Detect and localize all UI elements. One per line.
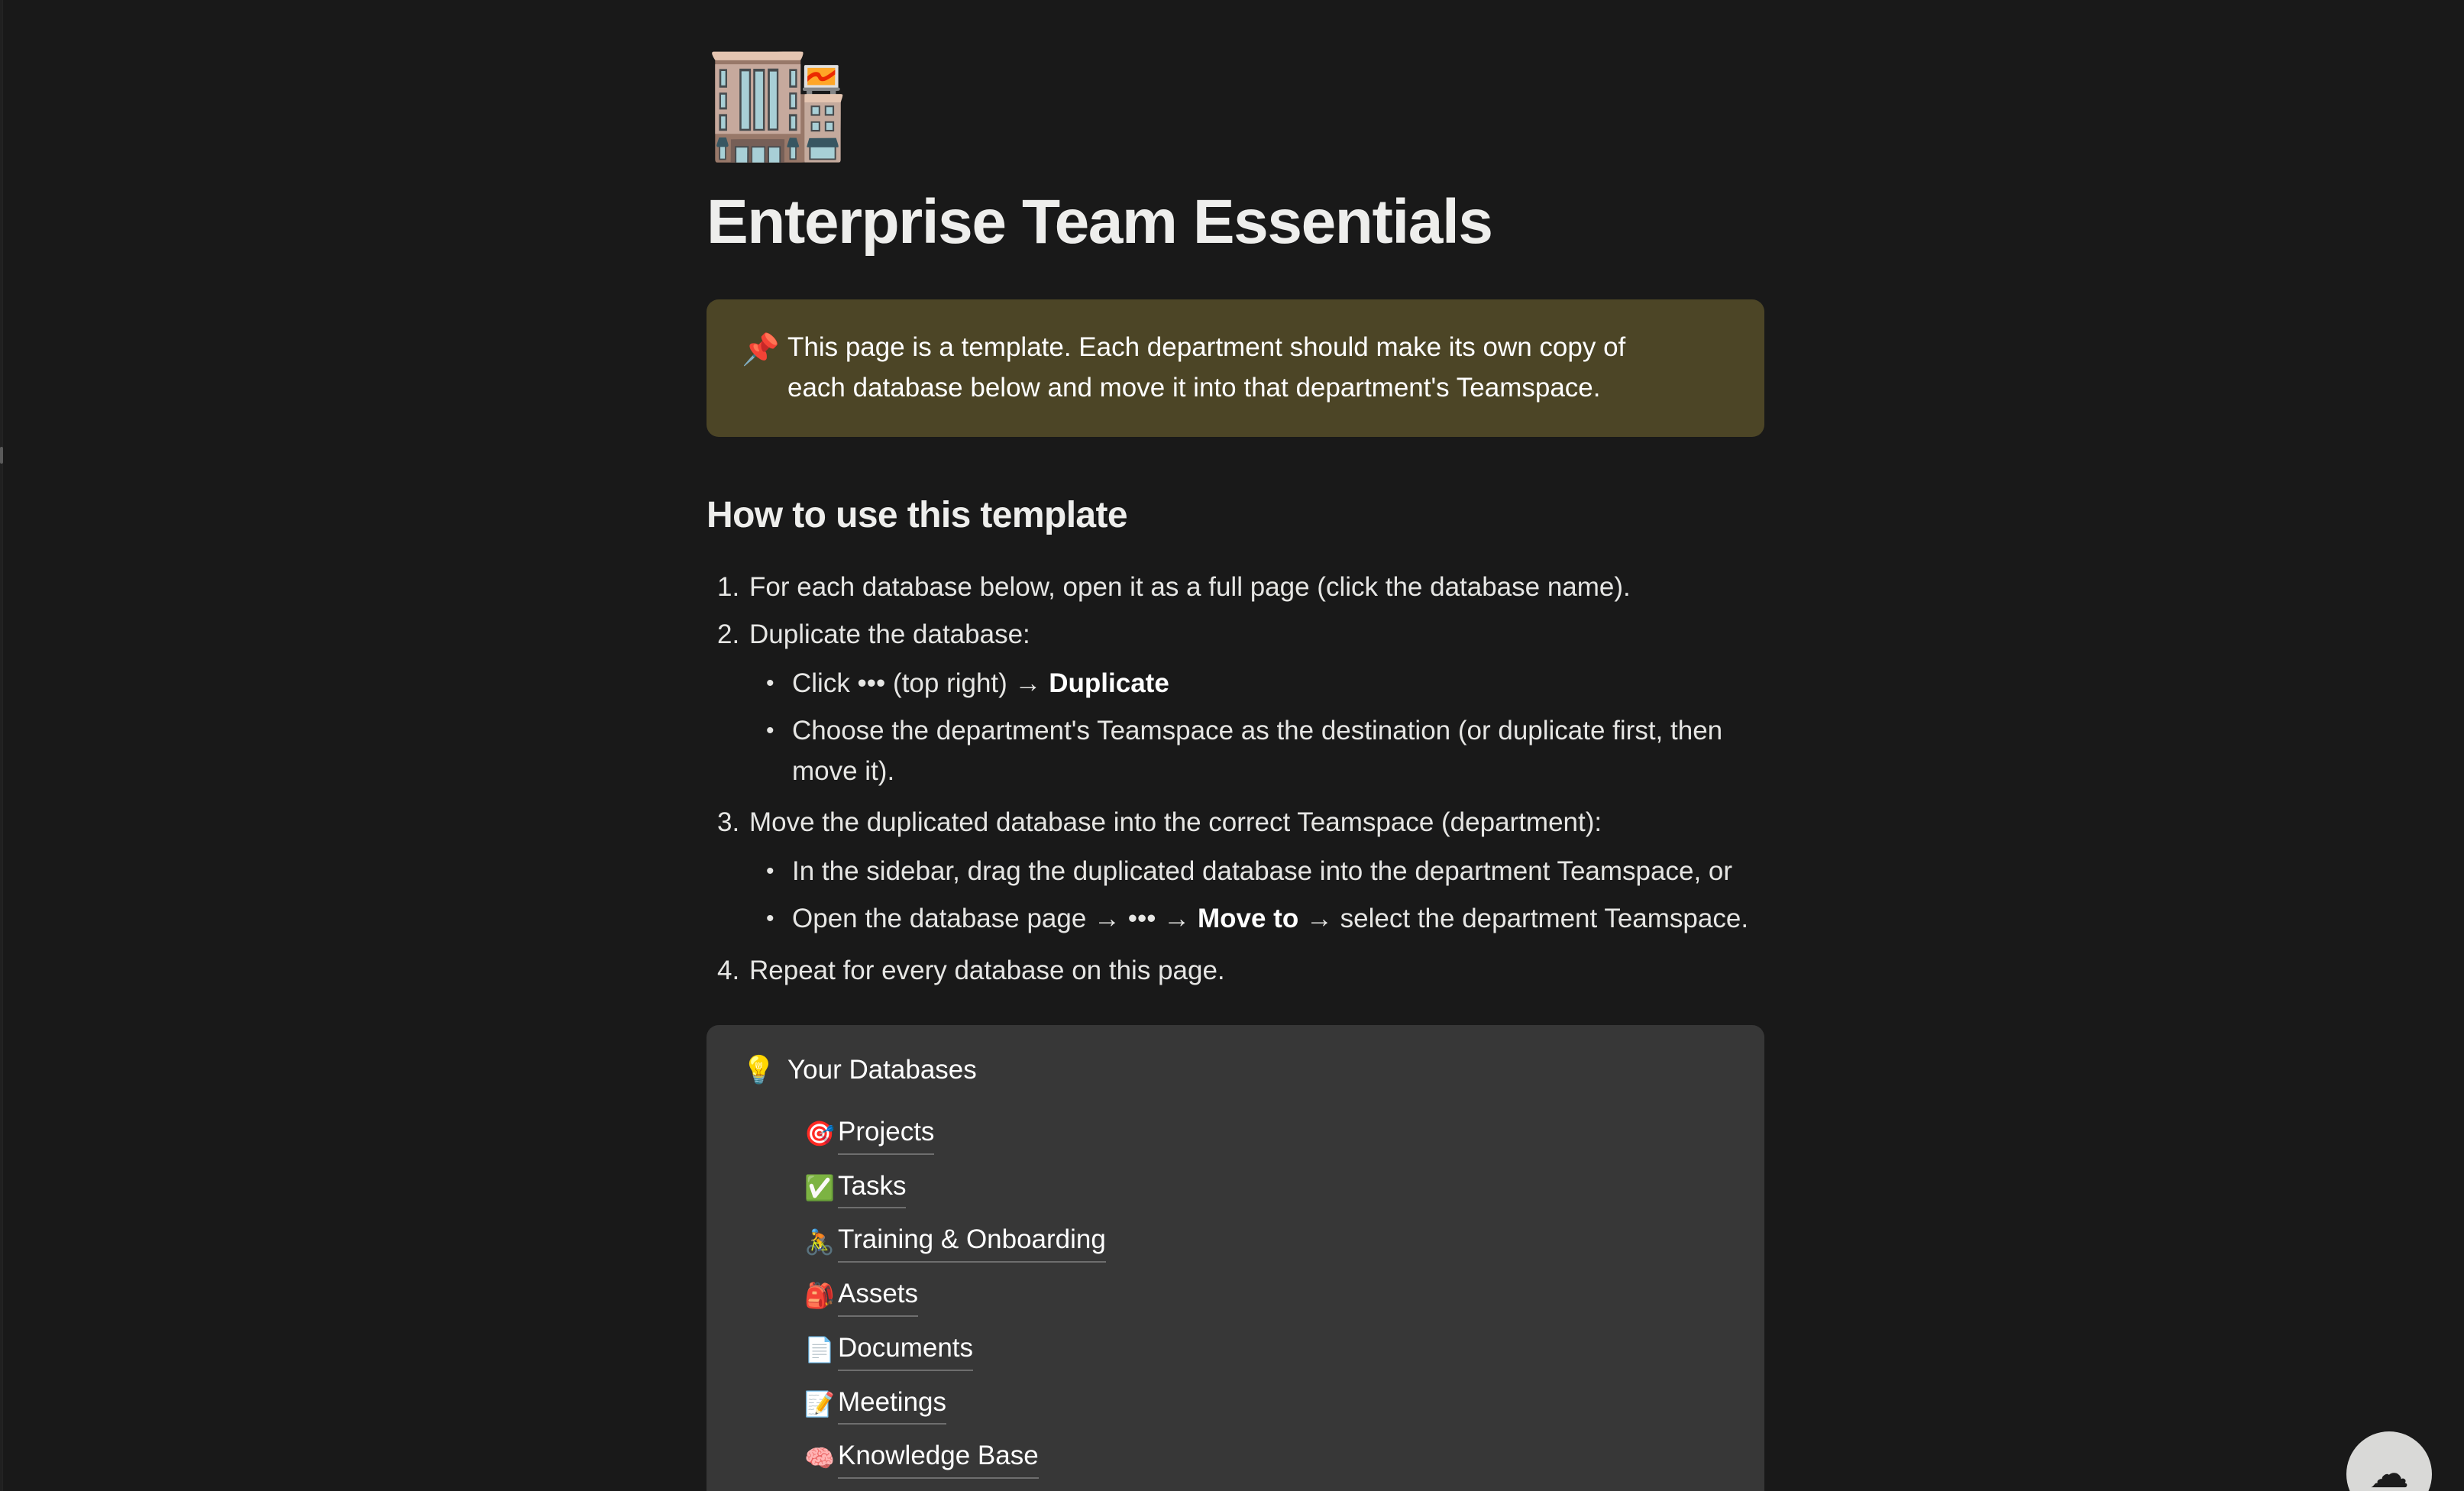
page-content: 🏬 Enterprise Team Essentials 📌 This page… <box>707 0 1764 1491</box>
how-to-steps-list: 1. For each database below, open it as a… <box>707 564 1764 995</box>
list-item: 3. Move the duplicated database into the… <box>707 799 1764 947</box>
your-databases-header: 💡 Your Databases <box>742 1051 1729 1090</box>
database-link-tasks[interactable]: Tasks <box>838 1167 906 1209</box>
sub-text-pre: Open the database page → ••• → <box>792 904 1198 933</box>
sub-bullet-list: • Click ••• (top right) → Duplicate • Ch… <box>749 660 1764 796</box>
list-item: • Open the database page → ••• → Move to… <box>749 895 1764 943</box>
list-item-body: Move the duplicated database into the co… <box>749 803 1764 943</box>
list-item: • In the sidebar, drag the duplicated da… <box>749 848 1764 896</box>
list-item[interactable]: 🎯 Projects <box>804 1107 1729 1161</box>
list-item-text: Open the database page → ••• → Move to →… <box>792 899 1764 940</box>
database-link-training-and-onboarding[interactable]: Training & Onboarding <box>838 1221 1106 1263</box>
list-item: 1. For each database below, open it as a… <box>707 564 1764 612</box>
sub-bullet-list: • In the sidebar, drag the duplicated da… <box>749 848 1764 943</box>
list-item[interactable]: 🧠 Knowledge Base <box>804 1431 1729 1485</box>
list-item: • Choose the department's Teamspace as t… <box>749 707 1764 795</box>
list-item[interactable]: 🚴 Training & Onboarding <box>804 1214 1729 1269</box>
light-bulb-emoji: 💡 <box>742 1051 787 1089</box>
list-item-text: For each database below, open it as a fu… <box>749 568 1764 608</box>
list-marker: 3. <box>707 803 749 843</box>
pushpin-emoji: 📌 <box>742 327 787 373</box>
list-item-text: Repeat for every database on this page. <box>749 951 1764 991</box>
list-marker: 2. <box>707 615 749 655</box>
list-item[interactable]: 📄 Documents <box>804 1323 1729 1377</box>
sub-text-bold: Move to <box>1198 904 1298 933</box>
list-item-text: Click ••• (top right) → Duplicate <box>792 664 1764 704</box>
list-item: 4. Repeat for every database on this pag… <box>707 947 1764 995</box>
sidebar-collapsed-edge[interactable] <box>0 0 3 1491</box>
list-item-body: Repeat for every database on this page. <box>749 951 1764 991</box>
list-item[interactable]: ✅ Tasks <box>804 1161 1729 1215</box>
brain-emoji: 🧠 <box>804 1446 838 1470</box>
bullet-marker: • <box>749 711 792 751</box>
list-item-text: In the sidebar, drag the duplicated data… <box>792 852 1764 892</box>
list-marker: 4. <box>707 951 749 991</box>
list-item[interactable]: 🎒 Assets <box>804 1269 1729 1323</box>
callout-text: This page is a template. Each department… <box>787 327 1651 408</box>
office-building-emoji[interactable]: 🏬 <box>707 42 1764 164</box>
your-databases-title: Your Databases <box>787 1051 977 1090</box>
list-item: 2. Duplicate the database: • Click ••• (… <box>707 611 1764 799</box>
database-links-list: 🎯 Projects ✅ Tasks 🚴 Training & Onboardi… <box>742 1107 1729 1485</box>
your-databases-callout: 💡 Your Databases 🎯 Projects ✅ Tasks 🚴 Tr… <box>707 1025 1764 1491</box>
list-item-text: Move the duplicated database into the co… <box>749 803 1764 843</box>
list-item-text: Choose the department's Teamspace as the… <box>792 711 1764 791</box>
list-marker: 1. <box>707 568 749 608</box>
template-notice-callout: 📌 This page is a template. Each departme… <box>707 299 1764 437</box>
backpack-emoji: 🎒 <box>804 1283 838 1308</box>
list-item: • Click ••• (top right) → Duplicate <box>749 660 1764 708</box>
sub-text-bold: Duplicate <box>1049 668 1169 698</box>
database-link-assets[interactable]: Assets <box>838 1275 918 1317</box>
sub-text-pre: In the sidebar, drag the duplicated data… <box>792 856 1732 886</box>
dart-emoji: 🎯 <box>804 1121 838 1146</box>
check-mark-button-emoji: ✅ <box>804 1176 838 1200</box>
sub-text-pre: Click ••• (top right) → <box>792 668 1049 698</box>
sub-text-post: → select the department Teamspace. <box>1298 904 1748 933</box>
list-item[interactable]: 📝 Meetings <box>804 1377 1729 1431</box>
list-item-body: Duplicate the database: • Click ••• (top… <box>749 615 1764 795</box>
database-link-knowledge-base[interactable]: Knowledge Base <box>838 1437 1039 1479</box>
bullet-marker: • <box>749 664 792 703</box>
database-link-documents[interactable]: Documents <box>838 1329 973 1371</box>
page-facing-up-emoji: 📄 <box>804 1337 838 1362</box>
memo-emoji: 📝 <box>804 1392 838 1416</box>
bullet-marker: • <box>749 899 792 939</box>
help-bubble-icon[interactable]: ☁ <box>2346 1431 2432 1491</box>
page-title[interactable]: Enterprise Team Essentials <box>707 189 1764 257</box>
cyclist-emoji: 🚴 <box>804 1230 838 1254</box>
list-item-text: Duplicate the database: <box>749 615 1764 655</box>
sidebar-resize-handle[interactable] <box>0 447 3 464</box>
section-heading-how-to-use: How to use this template <box>707 493 1764 538</box>
list-item-body: For each database below, open it as a fu… <box>749 568 1764 608</box>
database-link-projects[interactable]: Projects <box>838 1113 934 1155</box>
bullet-marker: • <box>749 852 792 891</box>
sub-text-pre: Choose the department's Teamspace as the… <box>792 716 1722 786</box>
database-link-meetings[interactable]: Meetings <box>838 1383 946 1425</box>
